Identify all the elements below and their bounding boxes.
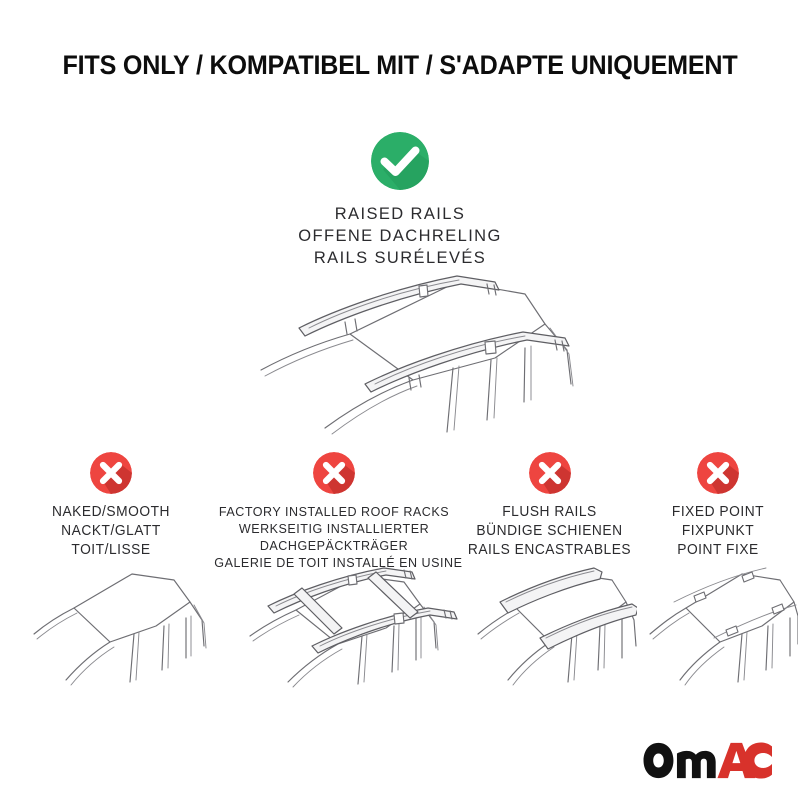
incompatible-label-en: FLUSH RAILS	[466, 503, 632, 522]
compatible-label-fr: RAILS SURÉLEVÉS	[230, 248, 570, 270]
logo-letter-o	[644, 743, 674, 778]
car-roof-raised-rails-illustration	[195, 272, 625, 452]
incompatible-label-en: NAKED/SMOOTH	[19, 503, 203, 522]
incompatible-item-naked-smooth: NAKED/SMOOTH NACKT/GLATT TOIT/LISSE	[14, 452, 208, 560]
cross-circle-icon	[313, 452, 355, 494]
incompatible-item-factory-roof-racks: FACTORY INSTALLED ROOF RACKS WERKSEITIG …	[208, 452, 460, 572]
incompatible-labels: FIXED POINT FIXPUNKT POINT FIXE	[642, 503, 794, 560]
compatible-labels: RAISED RAILS OFFENE DACHRELING RAILS SUR…	[230, 204, 570, 269]
incompatible-label-de: BÜNDIGE SCHIENEN	[466, 522, 632, 541]
car-roof-naked-smooth-illustration	[14, 558, 208, 693]
infographic-page: FITS ONLY / KOMPATIBEL MIT / S'ADAPTE UN…	[0, 0, 800, 800]
check-circle-icon	[371, 132, 429, 190]
compatible-label-de: OFFENE DACHRELING	[230, 226, 570, 248]
incompatible-label-de: NACKT/GLATT	[19, 522, 203, 541]
incompatible-label-en: FACTORY INSTALLED ROOF RACKS	[214, 503, 453, 520]
incompatible-label-fr: TOIT/LISSE	[19, 541, 203, 560]
compatible-label-en: RAISED RAILS	[230, 204, 570, 226]
cross-circle-icon	[90, 452, 132, 494]
page-title: FITS ONLY / KOMPATIBEL MIT / S'ADAPTE UN…	[28, 50, 772, 81]
compatible-section: RAISED RAILS OFFENE DACHRELING RAILS SUR…	[230, 132, 570, 269]
car-roof-flush-rails-illustration	[462, 558, 637, 693]
incompatible-label-fr: POINT FIXE	[642, 541, 794, 560]
incompatible-section: NAKED/SMOOTH NACKT/GLATT TOIT/LISSE	[0, 452, 800, 702]
cross-circle-icon	[697, 452, 739, 494]
incompatible-item-flush-rails: FLUSH RAILS BÜNDIGE SCHIENEN RAILS ENCAS…	[462, 452, 637, 560]
incompatible-labels: FLUSH RAILS BÜNDIGE SCHIENEN RAILS ENCAS…	[466, 503, 632, 560]
incompatible-label-en: FIXED POINT	[642, 503, 794, 522]
incompatible-label-de-1: WERKSEITIG INSTALLIERTER	[214, 520, 453, 537]
cross-circle-icon	[529, 452, 571, 494]
incompatible-label-de-2: DACHGEPÄCKTRÄGER	[214, 537, 453, 554]
incompatible-label-fr: RAILS ENCASTRABLES	[466, 541, 632, 560]
incompatible-label-de: FIXPUNKT	[642, 522, 794, 541]
car-roof-fixed-point-illustration	[638, 558, 798, 693]
incompatible-item-fixed-point: FIXED POINT FIXPUNKT POINT FIXE	[638, 452, 798, 560]
omac-logo	[640, 744, 772, 780]
car-roof-factory-roof-racks-illustration	[208, 556, 460, 694]
logo-letter-m	[677, 751, 716, 778]
incompatible-labels: NAKED/SMOOTH NACKT/GLATT TOIT/LISSE	[19, 503, 203, 560]
